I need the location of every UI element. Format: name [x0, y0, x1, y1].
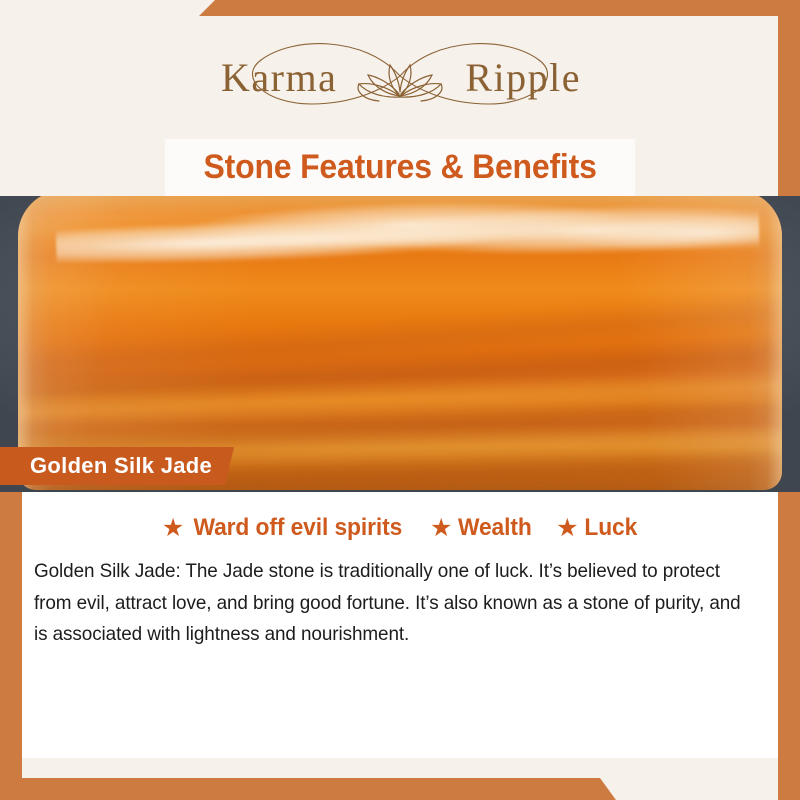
- page-title: Stone Features & Benefits: [203, 148, 596, 187]
- logo-word-right: Ripple: [465, 54, 581, 101]
- star-icon: ★: [430, 516, 452, 541]
- benefit-label: Wealth: [458, 514, 532, 542]
- logo-wordmark: Karma Ripple: [215, 30, 585, 122]
- benefit-label: Ward off evil spirits: [194, 514, 403, 542]
- logo-wrap: Karma Ripple: [215, 30, 585, 122]
- description-text: Golden Silk Jade: The Jade stone is trad…: [34, 556, 742, 651]
- description-panel: ★ Ward off evil spirits ★ Wealth ★ Luck …: [22, 492, 778, 758]
- stone-slab: [18, 196, 782, 490]
- star-icon: ★: [556, 516, 578, 541]
- benefit-item-ward-off-evil-spirits: ★ Ward off evil spirits: [162, 514, 408, 542]
- benefit-label: Luck: [584, 514, 637, 542]
- star-icon: ★: [162, 516, 184, 541]
- benefit-item-luck: ★ Luck: [556, 514, 638, 542]
- brand-logo: Karma Ripple: [0, 20, 800, 132]
- logo-word-left: Karma: [221, 54, 337, 101]
- stone-name-badge: Golden Silk Jade: [0, 447, 234, 485]
- stone-sheen: [18, 196, 782, 490]
- stone-edge-left: [18, 196, 52, 490]
- stone-edge-right: [748, 196, 782, 490]
- stone-name-label: Golden Silk Jade: [30, 453, 212, 479]
- frame-band-bottom: [0, 778, 800, 800]
- page-title-box: Stone Features & Benefits: [165, 139, 635, 196]
- benefits-list: ★ Ward off evil spirits ★ Wealth ★ Luck: [22, 514, 778, 542]
- frame-band-top: [0, 0, 800, 16]
- product-infographic-poster: Karma Ripple Stone Features & Benefits G…: [0, 0, 800, 800]
- benefit-item-wealth: ★ Wealth: [430, 514, 534, 542]
